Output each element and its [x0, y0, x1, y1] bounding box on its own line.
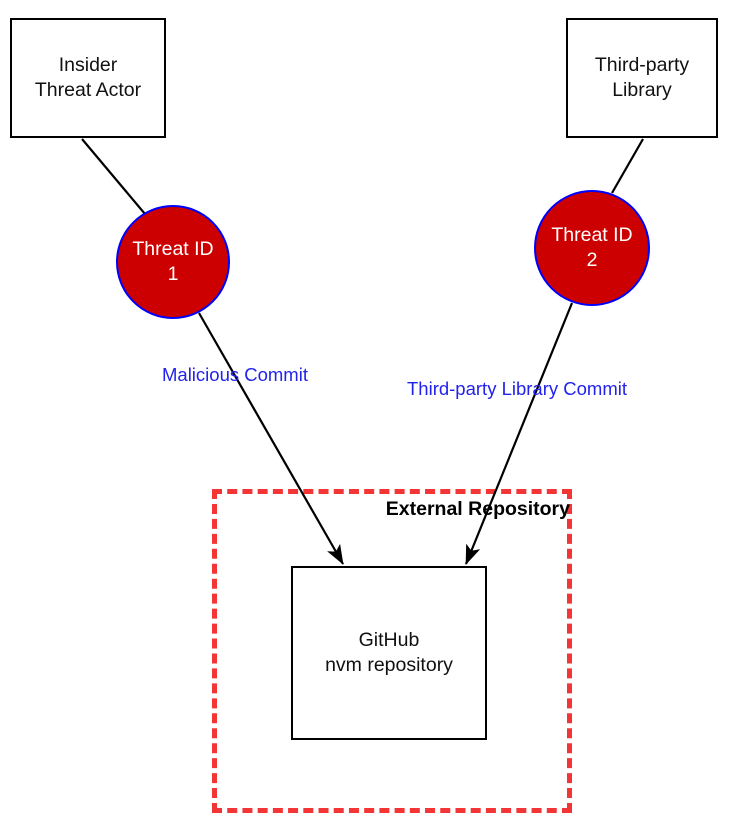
edge-label-malicious-commit: Malicious Commit [162, 364, 308, 385]
edge-insider-to-threat1 [82, 139, 145, 214]
edge-threat2-to-github [466, 303, 572, 564]
diagram-canvas: External Repository Insider Threat Actor… [0, 0, 733, 830]
node-github-nvm-repository[interactable]: GitHub nvm repository [291, 566, 487, 740]
threat-node-2[interactable]: Threat ID 2 [534, 190, 650, 306]
edge-label-third-party-library-commit: Third-party Library Commit [407, 378, 627, 399]
node-third-party-library[interactable]: Third-party Library [566, 18, 718, 138]
edge-threat1-to-github [199, 313, 343, 564]
threat-node-1[interactable]: Threat ID 1 [116, 205, 230, 319]
edge-library-to-threat2 [612, 139, 643, 193]
node-insider-threat-actor[interactable]: Insider Threat Actor [10, 18, 166, 138]
